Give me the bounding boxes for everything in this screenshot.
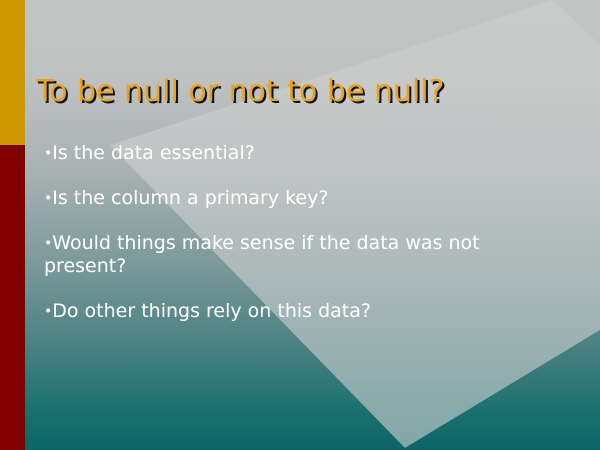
- list-item-label: Is the data essential?: [52, 142, 255, 164]
- list-item: •Is the column a primary key?: [44, 187, 560, 210]
- list-item: •Do other things rely on this data?: [44, 300, 560, 323]
- left-accent-bar-red: [0, 145, 25, 450]
- left-accent-bar-gold: [0, 0, 25, 145]
- slide-body-bullet-list: •Is the data essential? •Is the column a…: [44, 142, 560, 323]
- list-item-label: Would things make sense if the data was …: [44, 232, 480, 277]
- list-item: •Is the data essential?: [44, 142, 560, 165]
- list-item: •Would things make sense if the data was…: [44, 232, 560, 278]
- presentation-slide: To be null or not to be null? •Is the da…: [0, 0, 600, 450]
- list-item-label: Is the column a primary key?: [52, 187, 328, 209]
- list-item-label: Do other things rely on this data?: [52, 300, 371, 322]
- slide-title: To be null or not to be null?: [36, 74, 576, 110]
